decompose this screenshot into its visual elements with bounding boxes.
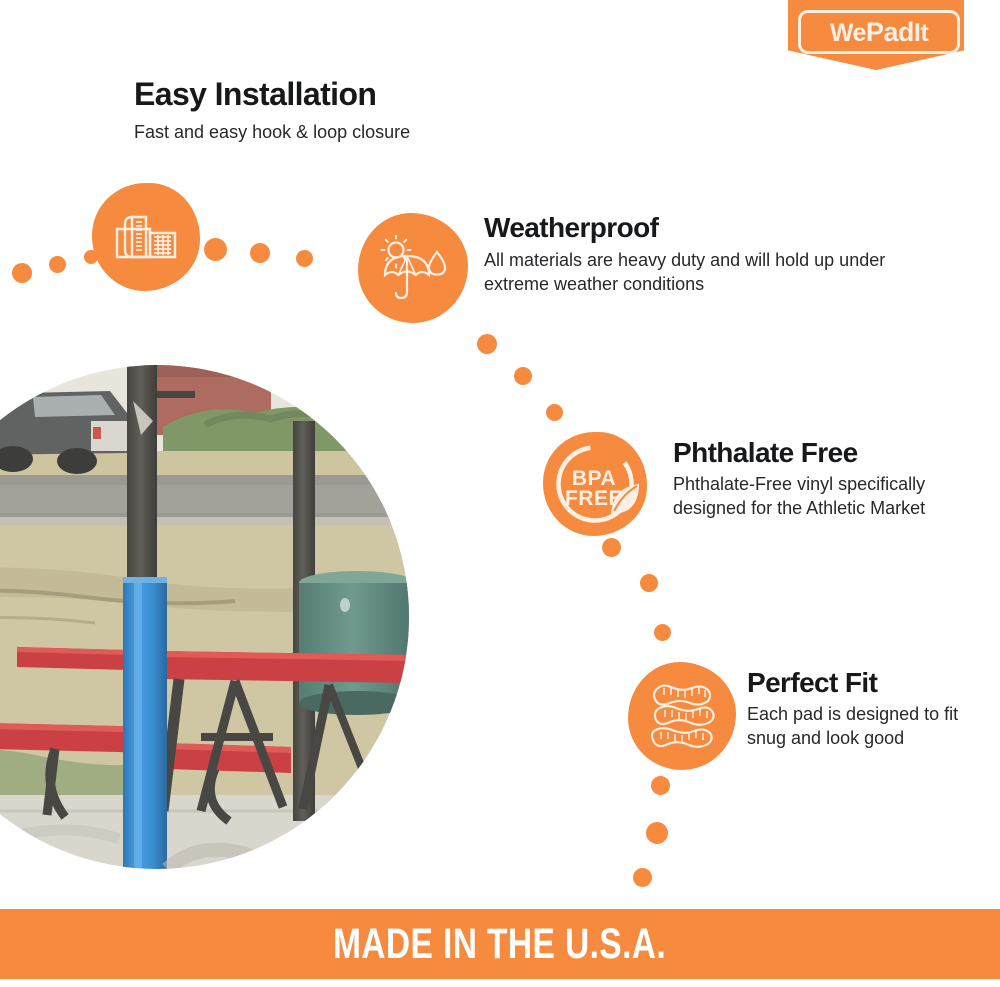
bpa-free-leaf-icon: BPA FREE [543,432,647,536]
feature-icon-easy-installation[interactable] [92,183,200,291]
brand-logo-frame: WePadIt [798,10,960,54]
feature-description: Each pad is designed to fit snug and loo… [747,703,979,751]
brand-logo-part-pad: Pad [866,17,914,47]
trail-dot [646,822,668,844]
feature-description: All materials are heavy duty and will ho… [484,249,904,297]
brand-logo-badge[interactable]: WePadIt [788,0,964,70]
umbrella-sun-raindrop-icon [377,235,449,301]
feature-block-perfect-fit: Perfect Fit Each pad is designed to fit … [747,668,979,751]
feature-description: Fast and easy hook & loop closure [134,121,410,145]
trail-dot [633,868,652,887]
feature-title: Perfect Fit [747,668,979,697]
feature-block-easy-installation: Easy Installation Fast and easy hook & l… [134,78,410,144]
trail-dot [602,538,621,557]
trail-dot [49,256,66,273]
feature-description: Phthalate-Free vinyl specifically design… [673,473,973,521]
trail-dot [651,776,670,795]
measuring-tape-icon [644,679,720,753]
trail-dot [546,404,563,421]
made-in-usa-text: MADE IN THE U.S.A. [333,920,666,969]
building-icon [114,211,178,263]
trail-dot [654,624,671,641]
trail-dot [204,238,227,261]
trail-dot [250,243,270,263]
trail-dot [12,263,32,283]
feature-block-phthalate-free: Phthalate Free Phthalate-Free vinyl spec… [673,438,973,521]
feature-title: Phthalate Free [673,438,973,467]
made-in-usa-banner: MADE IN THE U.S.A. [0,909,1000,979]
feature-icon-phthalate-free[interactable]: BPA FREE [543,432,647,536]
feature-icon-weatherproof[interactable] [358,213,468,323]
trail-dot [296,250,313,267]
brand-logo-part-it: It [914,19,928,47]
trail-dot [640,574,658,592]
trail-dot [477,334,497,354]
trail-dot [514,367,532,385]
brand-logo-part-we: We [830,19,866,47]
infographic-canvas: WePadIt [0,0,1000,987]
feature-title: Weatherproof [484,213,904,242]
feature-block-weatherproof: Weatherproof All materials are heavy dut… [484,213,904,297]
feature-icon-perfect-fit[interactable] [628,662,736,770]
feature-title: Easy Installation [134,78,410,112]
brand-logo-text: WePadIt [830,19,928,46]
product-photo [0,365,410,870]
